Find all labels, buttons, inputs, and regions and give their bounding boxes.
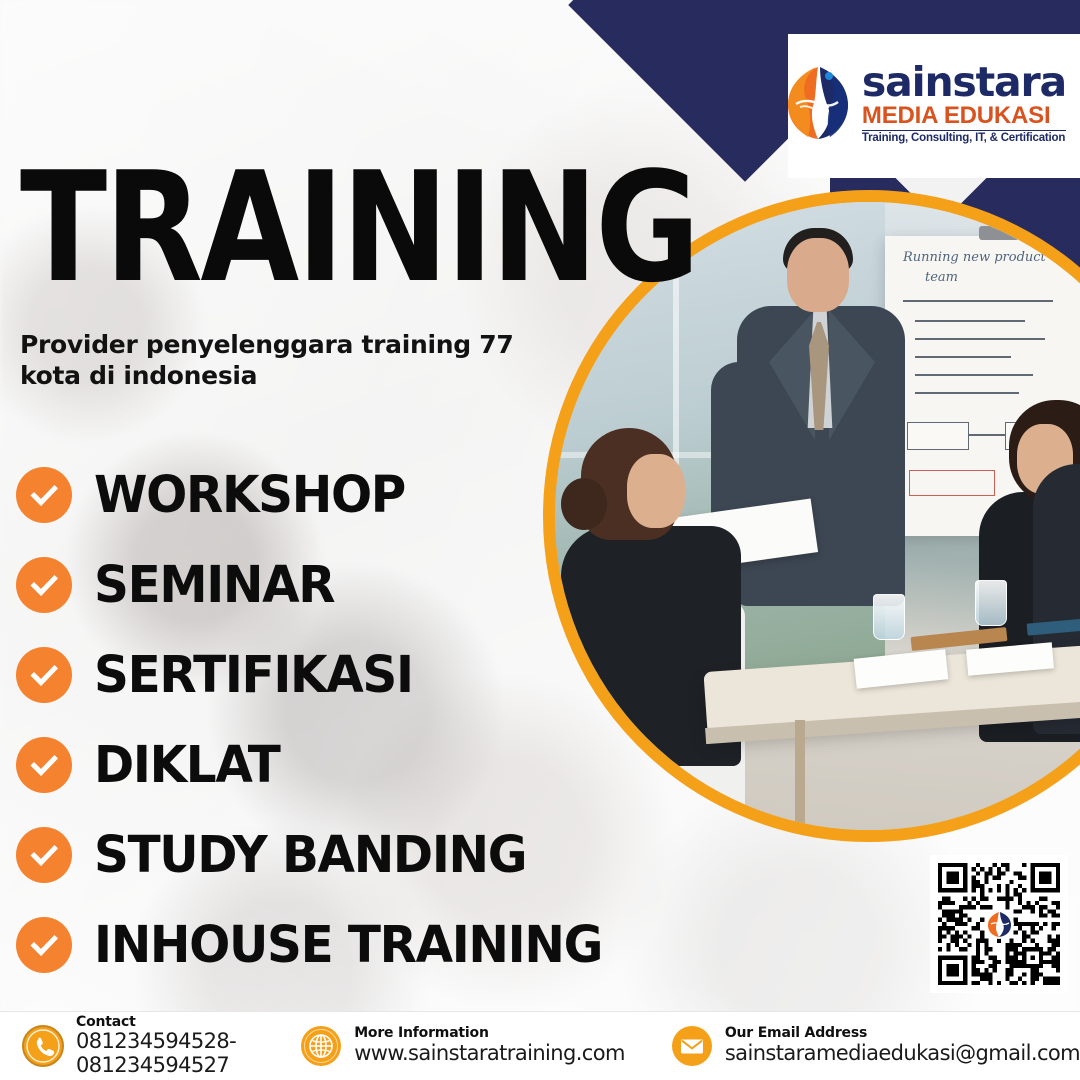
check-circle-icon (16, 647, 72, 703)
poster-canvas: sainstara MEDIA EDUKASI Training, Consul… (0, 0, 1080, 1080)
list-item: DIKLAT (16, 720, 629, 810)
page-subtitle: Provider penyelenggara training 77 kota … (20, 330, 580, 391)
check-circle-icon (16, 557, 72, 613)
footer-website-item[interactable]: More Information www.sainstaratraining.c… (300, 1025, 625, 1067)
footer-email-item[interactable]: Our Email Address sainstaramediaedukasi@… (671, 1025, 1080, 1067)
envelope-icon (671, 1025, 713, 1067)
footer-website-title: More Information (354, 1026, 625, 1042)
check-circle-icon (16, 737, 72, 793)
logo-subtitle: MEDIA EDUKASI (862, 104, 1066, 128)
footer-contact-title: Contact (76, 1015, 250, 1031)
page-title: TRAINING (20, 158, 698, 298)
list-item-label: SEMINAR (94, 556, 334, 615)
list-item: SERTIFIKASI (16, 630, 629, 720)
check-circle-icon (16, 917, 72, 973)
contact-footer: Contact 081234594528-081234594527 More (0, 1011, 1080, 1080)
logo-tagline: Training, Consulting, IT, & Certificatio… (862, 130, 1066, 145)
list-item-label: WORKSHOP (94, 466, 405, 525)
sainstara-logo-icon (984, 909, 1014, 939)
logo-name: sainstara (862, 62, 1066, 103)
check-circle-icon (16, 827, 72, 883)
qr-code[interactable] (930, 855, 1068, 993)
list-item-label: SERTIFIKASI (94, 646, 413, 705)
list-item: SEMINAR (16, 540, 629, 630)
list-item-label: STUDY BANDING (94, 826, 526, 885)
check-circle-icon (16, 467, 72, 523)
attendee-one-face (627, 454, 685, 528)
footer-contact-item[interactable]: Contact 081234594528-081234594527 (22, 1015, 250, 1078)
footer-website-value: www.sainstaratraining.com (354, 1042, 625, 1066)
list-item: STUDY BANDING (16, 810, 629, 900)
list-item-label: INHOUSE TRAINING (94, 916, 602, 975)
presenter-head (787, 238, 849, 312)
list-item: WORKSHOP (16, 450, 629, 540)
list-item: INHOUSE TRAINING (16, 900, 629, 990)
footer-email-title: Our Email Address (725, 1026, 1080, 1042)
phone-icon (22, 1025, 64, 1067)
flame-indonesia-map-icon (782, 63, 854, 143)
brand-logo: sainstara MEDIA EDUKASI Training, Consul… (782, 62, 1066, 145)
list-item-label: DIKLAT (94, 736, 279, 795)
service-checklist: WORKSHOP SEMINAR SERTIFIKASI (16, 450, 629, 990)
water-glass (873, 594, 905, 640)
water-glass (975, 580, 1007, 626)
table-leg (795, 720, 805, 840)
footer-email-value: sainstaramediaedukasi@gmail.com (725, 1042, 1080, 1066)
globe-icon (300, 1025, 342, 1067)
footer-contact-value: 081234594528-081234594527 (76, 1030, 250, 1077)
qr-code-grid (938, 863, 1060, 985)
flipchart-clip (979, 226, 1019, 240)
